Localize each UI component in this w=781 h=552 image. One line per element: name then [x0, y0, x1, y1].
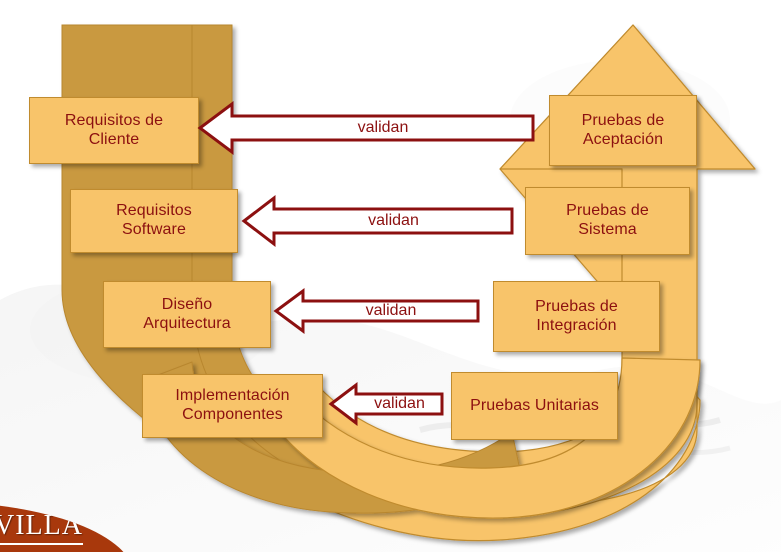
- stage-pruebas-sistema[interactable]: Pruebas de Sistema: [525, 187, 690, 255]
- stage-pruebas-integracion[interactable]: Pruebas de Integración: [493, 281, 660, 352]
- relation-validan-3: validan: [275, 288, 479, 334]
- stage-label: Pruebas de Integración: [535, 298, 618, 336]
- stage-label: Diseño Arquitectura: [143, 296, 230, 334]
- stage-diseno-arquitectura[interactable]: Diseño Arquitectura: [103, 281, 271, 348]
- stage-label: Pruebas de Sistema: [566, 202, 649, 240]
- stage-label: Pruebas de Aceptación: [582, 112, 665, 150]
- relation-label: validan: [274, 209, 513, 233]
- stage-label: Implementación Componentes: [175, 387, 289, 425]
- relation-validan-4: validan: [330, 382, 443, 426]
- relation-label: validan: [356, 394, 443, 414]
- v-model-diagram-canvas: Requisitos de Cliente Requisitos Softwar…: [0, 0, 781, 552]
- stage-label: Requisitos de Cliente: [65, 112, 163, 150]
- relation-label: validan: [232, 116, 534, 140]
- stage-pruebas-unitarias[interactable]: Pruebas Unitarias: [451, 372, 618, 440]
- stage-requisitos-cliente[interactable]: Requisitos de Cliente: [29, 97, 199, 164]
- relation-validan-1: validan: [199, 101, 534, 155]
- stage-label: Pruebas Unitarias: [470, 397, 599, 416]
- relation-validan-2: validan: [243, 195, 513, 247]
- v-model-band: [0, 0, 781, 552]
- stage-pruebas-aceptacion[interactable]: Pruebas de Aceptación: [549, 95, 697, 166]
- logo-text: VILLA: [0, 510, 83, 545]
- relation-label: validan: [303, 301, 479, 321]
- stage-requisitos-software[interactable]: Requisitos Software: [70, 189, 238, 253]
- stage-implementacion-componentes[interactable]: Implementación Componentes: [142, 374, 323, 438]
- stage-label: Requisitos Software: [116, 202, 192, 240]
